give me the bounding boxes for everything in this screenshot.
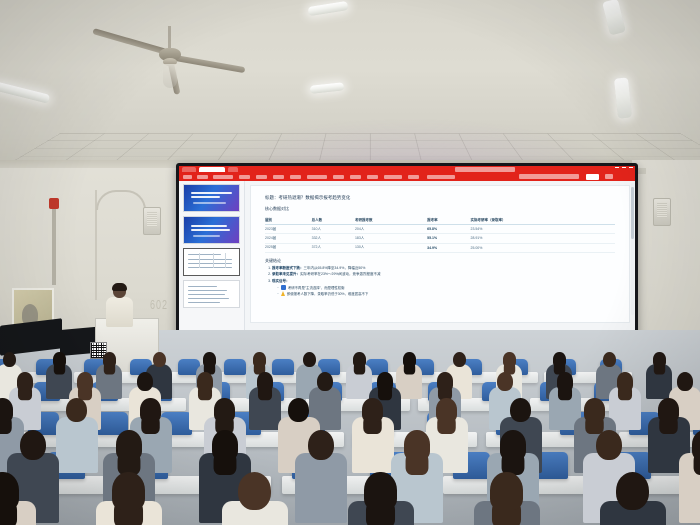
window-controls[interactable] bbox=[615, 167, 633, 168]
audience-head bbox=[377, 372, 393, 391]
audience-body bbox=[346, 364, 372, 399]
ribbon-tab-member[interactable] bbox=[408, 175, 419, 179]
conclusions-heading: 关键结论 bbox=[265, 258, 615, 264]
slide-title: 标题：考研热退潮？数据揭示报考趋势变化 bbox=[265, 195, 615, 201]
cell-admit-rate: 28.91% bbox=[471, 234, 616, 243]
slide-canvas[interactable]: 标题：考研热退潮？数据揭示报考趋势变化 核心数据对比 届别 总人数 考研报考数 … bbox=[245, 181, 635, 342]
audience-head bbox=[510, 398, 531, 422]
ceiling-fan-light bbox=[163, 64, 177, 88]
col-header-applicants: 考研报考数 bbox=[355, 216, 427, 225]
ribbon-tab-section[interactable] bbox=[350, 175, 361, 179]
window-titlebar bbox=[179, 166, 635, 173]
audience-body bbox=[646, 364, 672, 399]
audience-head bbox=[692, 430, 700, 460]
fire-alarm-light bbox=[49, 198, 59, 209]
audience-head bbox=[153, 352, 166, 367]
fire-alarm-pole bbox=[52, 205, 56, 285]
audience-head bbox=[140, 398, 161, 422]
ceiling bbox=[0, 0, 700, 172]
cell-apply-rate: 65.8% bbox=[427, 225, 470, 234]
titlebar-tab-3[interactable] bbox=[228, 167, 238, 172]
audience-head bbox=[503, 352, 516, 367]
cell-apply-rate: 34.9% bbox=[427, 243, 470, 252]
col-header-apply-rate: 报考率 bbox=[427, 216, 470, 225]
ribbon-tab-extra[interactable] bbox=[427, 175, 455, 179]
audience-head bbox=[66, 398, 87, 422]
audience-member bbox=[679, 430, 700, 525]
slide-thumbnail-2[interactable] bbox=[183, 216, 240, 244]
audience-head bbox=[112, 472, 145, 510]
audience-body bbox=[249, 387, 281, 430]
thumb-row-line bbox=[188, 263, 232, 264]
audience-head bbox=[116, 430, 142, 460]
audience-member bbox=[346, 352, 372, 402]
audience-head bbox=[3, 352, 16, 367]
audience-head bbox=[212, 430, 238, 460]
thumb-row-line bbox=[188, 298, 229, 299]
fluorescent-light-1 bbox=[0, 81, 50, 103]
titlebar-document-name bbox=[455, 167, 515, 172]
audience-head bbox=[303, 352, 316, 367]
cell-cohort: 2025届 bbox=[265, 243, 312, 252]
audience-head bbox=[77, 372, 93, 391]
editor-body: 标题：考研热退潮？数据揭示报考趋势变化 核心数据对比 届别 总人数 考研报考数 … bbox=[179, 181, 635, 342]
slide-thumbnail-4[interactable] bbox=[183, 280, 240, 308]
presenter-hair bbox=[112, 283, 127, 291]
slide-surface[interactable]: 标题：考研热退潮？数据揭示报考趋势变化 核心数据对比 届别 总人数 考研报考数 … bbox=[250, 185, 630, 323]
screenshot-root: 602 bbox=[0, 0, 700, 525]
ribbon-tab-tools[interactable] bbox=[384, 175, 402, 179]
col-header-total: 总人数 bbox=[312, 216, 355, 225]
thumb-col-rule bbox=[213, 253, 214, 268]
audience-head bbox=[214, 398, 235, 422]
audience-member bbox=[474, 472, 540, 525]
thumb-title-line bbox=[191, 229, 231, 231]
thumb-col-rule bbox=[199, 253, 200, 268]
cell-total: 310人 bbox=[312, 225, 355, 234]
bullet-dash: – bbox=[277, 291, 279, 295]
thumb-sub-line bbox=[193, 235, 221, 237]
maximize-icon[interactable] bbox=[622, 167, 626, 168]
signal-text: 即使报考人数下降，录取率仍低于30%，难度居高不下 bbox=[287, 291, 368, 296]
cell-total: 372人 bbox=[312, 243, 355, 252]
audience-head bbox=[317, 372, 333, 391]
audience-member bbox=[352, 398, 394, 478]
ribbon-tab-cloud[interactable] bbox=[367, 175, 378, 179]
room-number-label: 602 bbox=[150, 298, 168, 312]
table-header-row: 届别 总人数 考研报考数 报考率 实际考研率（录取率） bbox=[265, 216, 615, 225]
bullet-dash: – bbox=[277, 285, 279, 289]
ribbon-toolbar[interactable] bbox=[179, 173, 635, 181]
audience-member bbox=[46, 352, 72, 402]
audience-member bbox=[56, 398, 98, 478]
audience-head bbox=[677, 372, 693, 391]
ribbon-settings-icon[interactable] bbox=[605, 174, 613, 179]
scrollbar-thumb[interactable] bbox=[631, 187, 634, 239]
audience-head bbox=[17, 372, 33, 391]
signals-list: – 考研不再是"主流选择"，而是理性权衡 – 即使报考人数下降，录取率仍低于30… bbox=[272, 285, 615, 296]
audience-head bbox=[500, 430, 526, 460]
cell-admit-rate: 23.54% bbox=[471, 225, 616, 234]
col-header-cohort: 届别 bbox=[265, 216, 312, 225]
speaker-grill bbox=[657, 203, 667, 218]
audience-head bbox=[596, 430, 622, 460]
cell-apply-rate: 55.1% bbox=[427, 234, 470, 243]
thumb-row-line bbox=[188, 290, 227, 291]
audience-member bbox=[646, 352, 672, 402]
audience-head bbox=[257, 372, 273, 391]
ribbon-tab-animation[interactable] bbox=[273, 175, 284, 179]
conclusion-lead: 录取率未见提升： bbox=[272, 272, 300, 276]
audience-body bbox=[46, 364, 72, 399]
ribbon-account-area[interactable] bbox=[519, 174, 579, 179]
audience-head bbox=[353, 352, 366, 367]
audience-head bbox=[553, 352, 566, 367]
ribbon-upgrade-button[interactable] bbox=[586, 174, 599, 180]
audience-head bbox=[497, 372, 513, 391]
signal-text: 考研不再是"主流选择"，而是理性权衡 bbox=[288, 285, 345, 290]
cell-applicants: 183人 bbox=[355, 234, 427, 243]
wall-speaker-right bbox=[653, 198, 671, 226]
audience-head bbox=[404, 430, 430, 460]
thumb-sub-line bbox=[193, 202, 226, 204]
audience-head bbox=[616, 472, 649, 510]
thumb-row-line bbox=[188, 286, 217, 287]
audience-head bbox=[403, 352, 416, 367]
conclusion-lead: 报考率断崖式下跌： bbox=[272, 266, 304, 270]
cell-total: 332人 bbox=[312, 234, 355, 243]
thumb-title-line bbox=[191, 196, 221, 198]
table-row: 2025届 372人 130人 34.9% 25.00% bbox=[265, 243, 615, 252]
ribbon-tab-review[interactable] bbox=[307, 175, 327, 179]
conclusion-item: 录取率未见提升：实际考研率在23%～29%间波动，竞争激烈程度不减 bbox=[272, 272, 615, 277]
audience-head bbox=[308, 430, 334, 460]
audience-head bbox=[197, 372, 213, 391]
wps-presentation-window[interactable]: 标题：考研热退潮？数据揭示报考趋势变化 核心数据对比 届别 总人数 考研报考数 … bbox=[179, 166, 635, 342]
conclusion-item: 现实信号： – 考研不再是"主流选择"，而是理性权衡 – bbox=[272, 279, 615, 296]
slide-thumbnail-panel[interactable] bbox=[179, 181, 245, 342]
audience-head bbox=[53, 352, 66, 367]
thumb-row-line bbox=[188, 267, 232, 268]
audience-head bbox=[653, 352, 666, 367]
signal-item: – 考研不再是"主流选择"，而是理性权衡 bbox=[277, 285, 615, 290]
audience-head bbox=[288, 398, 309, 422]
canvas-scrollbar[interactable] bbox=[631, 183, 634, 315]
table-row: 2023届 310人 204人 65.8% 23.54% bbox=[265, 225, 615, 234]
audience-member bbox=[600, 472, 666, 525]
fluorescent-light-5 bbox=[614, 77, 632, 118]
ribbon-tab-insert[interactable] bbox=[213, 175, 233, 179]
thumb-title-line bbox=[191, 225, 227, 227]
table-row: 2024届 332人 183人 55.1% 28.91% bbox=[265, 234, 615, 243]
cell-applicants: 130人 bbox=[355, 243, 427, 252]
audience-member bbox=[348, 472, 414, 525]
fan-blade-2 bbox=[169, 54, 245, 73]
audience-head bbox=[603, 352, 616, 367]
ribbon-tab-file[interactable] bbox=[183, 175, 192, 179]
data-table: 届别 总人数 考研报考数 报考率 实际考研率（录取率） 2023届 310人 bbox=[265, 216, 615, 253]
conclusion-text: 实际考研率在23%～29%间波动，竞争激烈程度不减 bbox=[300, 272, 381, 276]
warning-icon bbox=[281, 291, 285, 296]
presenter-body bbox=[106, 297, 133, 327]
audience-head bbox=[490, 472, 523, 510]
conclusion-text: 三年内从65.8%降至34.9%，降幅近50% bbox=[304, 266, 366, 270]
ribbon-tab-transition[interactable] bbox=[256, 175, 267, 179]
titlebar-tab-active[interactable] bbox=[199, 167, 225, 172]
thumb-col-rule bbox=[225, 253, 226, 268]
thumb-row-line bbox=[188, 259, 232, 260]
close-icon[interactable] bbox=[629, 167, 633, 168]
audience-head bbox=[364, 472, 397, 510]
audience-head bbox=[437, 372, 453, 391]
minimize-icon[interactable] bbox=[615, 167, 619, 168]
thumb-row-line bbox=[188, 302, 220, 303]
audience-member bbox=[249, 372, 281, 434]
audience-head bbox=[238, 472, 271, 510]
fluorescent-light-2 bbox=[308, 1, 349, 16]
slide-thumbnail-1[interactable] bbox=[183, 184, 240, 212]
audience-body bbox=[56, 417, 98, 473]
cell-cohort: 2023届 bbox=[265, 225, 312, 234]
cell-cohort: 2024届 bbox=[265, 234, 312, 243]
thumb-row-line bbox=[188, 254, 221, 255]
audience-head bbox=[253, 352, 266, 367]
cell-applicants: 204人 bbox=[355, 225, 427, 234]
fluorescent-light-4 bbox=[602, 0, 626, 35]
audience-head bbox=[584, 398, 605, 422]
audience-head bbox=[362, 398, 383, 422]
audience-head bbox=[436, 398, 457, 422]
ribbon-tab-home[interactable] bbox=[197, 175, 208, 179]
conclusion-item: 报考率断崖式下跌：三年内从65.8%降至34.9%，降幅近50% bbox=[272, 266, 615, 271]
audience-member bbox=[0, 472, 36, 525]
audience-head bbox=[103, 352, 116, 367]
chart-icon bbox=[281, 285, 286, 290]
audience-head bbox=[0, 398, 13, 422]
conclusion-lead: 现实信号： bbox=[272, 279, 290, 283]
cell-admit-rate: 25.00% bbox=[471, 243, 616, 252]
chair bbox=[224, 359, 246, 375]
signal-item: – 即使报考人数下降，录取率仍低于30%，难度居高不下 bbox=[277, 291, 615, 296]
presenter bbox=[105, 284, 133, 326]
thumb-row-line bbox=[188, 294, 224, 295]
audience-body bbox=[352, 417, 394, 473]
speaker-grill bbox=[147, 212, 157, 227]
audience-member bbox=[222, 472, 288, 525]
wall-speaker-left bbox=[143, 207, 161, 235]
thumb-title-line bbox=[191, 192, 233, 194]
audience-member bbox=[295, 430, 347, 525]
audience-head bbox=[20, 430, 46, 460]
audience-head bbox=[203, 352, 216, 367]
audience-member bbox=[96, 472, 162, 525]
audience-head bbox=[617, 372, 633, 391]
conclusions-list: 报考率断崖式下跌：三年内从65.8%降至34.9%，降幅近50% 录取率未见提升… bbox=[265, 266, 615, 296]
audience-head bbox=[0, 472, 19, 510]
ribbon-tab-slideshow[interactable] bbox=[290, 175, 301, 179]
slide-thumbnail-3[interactable] bbox=[183, 248, 240, 276]
audience-head bbox=[557, 372, 573, 391]
audience-body bbox=[679, 453, 700, 523]
audience-head bbox=[453, 352, 466, 367]
ribbon-tab-design[interactable] bbox=[239, 175, 250, 179]
audience-head bbox=[137, 372, 153, 391]
col-header-admit-rate: 实际考研率（录取率） bbox=[471, 216, 616, 225]
fluorescent-light-3 bbox=[310, 82, 345, 94]
audience-body bbox=[295, 453, 347, 523]
titlebar-tab-1[interactable] bbox=[182, 167, 196, 172]
slide-subtitle: 核心数据对比 bbox=[265, 206, 615, 212]
ribbon-tab-view[interactable] bbox=[333, 175, 344, 179]
audience-head bbox=[658, 398, 679, 422]
